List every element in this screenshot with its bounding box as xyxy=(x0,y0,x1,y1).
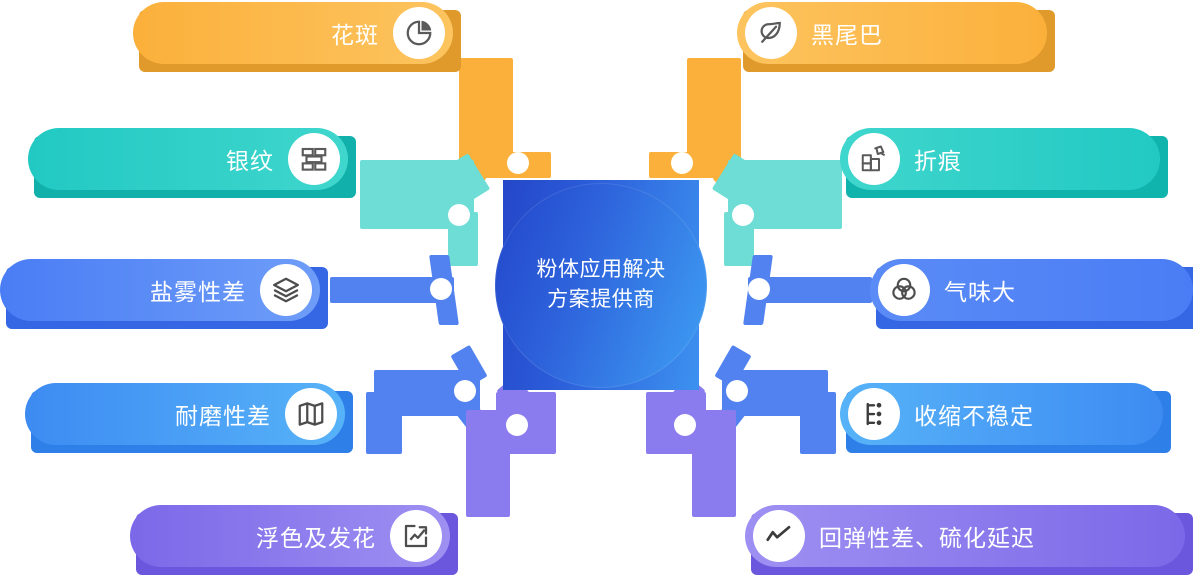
center-label: 粉体应用解决 方案提供商 xyxy=(503,180,699,390)
connector-dot xyxy=(732,204,754,226)
connector-segment xyxy=(459,58,513,161)
connector-dot xyxy=(507,152,529,174)
pill-right-2[interactable]: 折痕 xyxy=(840,128,1160,190)
connector-dot xyxy=(430,278,452,300)
pill-label: 盐雾性差 xyxy=(150,273,246,307)
pill-body: 回弹性差、硫化延迟 xyxy=(745,505,1185,567)
pill-label: 气味大 xyxy=(944,273,1016,307)
connector-dot xyxy=(748,278,770,300)
pill-left-5[interactable]: 浮色及发花 xyxy=(130,505,450,567)
pill-right-5[interactable]: 回弹性差、硫化延迟 xyxy=(745,505,1185,567)
pill-label: 浮色及发花 xyxy=(256,519,376,553)
sitemap-icon xyxy=(848,388,900,440)
line-chart-icon xyxy=(753,510,805,562)
pill-body: 盐雾性差 xyxy=(0,259,320,321)
pill-body: 黑尾巴 xyxy=(737,2,1047,64)
connector-dot xyxy=(674,414,696,436)
pill-label: 花斑 xyxy=(331,16,379,50)
center-node: 粉体应用解决 方案提供商 xyxy=(503,180,699,390)
chart-box-icon xyxy=(390,510,442,562)
layers-icon xyxy=(260,264,312,316)
leaf-icon xyxy=(745,7,797,59)
pill-body: 银纹 xyxy=(28,128,348,190)
map-icon xyxy=(285,388,337,440)
pill-body: 折痕 xyxy=(840,128,1160,190)
pill-label: 耐磨性差 xyxy=(175,397,271,431)
pill-body: 气味大 xyxy=(870,259,1193,321)
pill-body: 收缩不稳定 xyxy=(840,383,1163,445)
brick-wall-icon xyxy=(288,133,340,185)
venn-icon xyxy=(878,264,930,316)
pill-body: 耐磨性差 xyxy=(25,383,345,445)
connector-left-2 xyxy=(360,160,500,270)
connector-dot xyxy=(448,204,470,226)
pill-label: 收缩不稳定 xyxy=(914,397,1034,431)
pill-label: 回弹性差、硫化延迟 xyxy=(819,519,1035,553)
pill-left-3[interactable]: 盐雾性差 xyxy=(0,259,320,321)
connector-segment xyxy=(366,392,402,454)
connector-right-3 xyxy=(698,255,873,345)
pill-label: 银纹 xyxy=(226,142,274,176)
pill-left-1[interactable]: 花斑 xyxy=(133,2,453,64)
connector-segment xyxy=(687,58,741,161)
connector-right-5 xyxy=(620,392,736,517)
pie-chart-icon xyxy=(393,7,445,59)
pill-right-4[interactable]: 收缩不稳定 xyxy=(840,383,1163,445)
pill-right-1[interactable]: 黑尾巴 xyxy=(737,2,1047,64)
pill-body: 花斑 xyxy=(133,2,453,64)
connector-dot xyxy=(506,414,528,436)
connector-segment xyxy=(800,392,836,454)
pill-left-2[interactable]: 银纹 xyxy=(28,128,348,190)
pill-left-4[interactable]: 耐磨性差 xyxy=(25,383,345,445)
infographic-canvas: 粉体应用解决 方案提供商 花斑 银纹 xyxy=(0,0,1193,577)
pill-label: 折痕 xyxy=(914,142,962,176)
connector-left-5 xyxy=(466,392,582,517)
connector-left-3 xyxy=(330,255,505,345)
connector-dot xyxy=(671,152,693,174)
puzzle-icon xyxy=(848,133,900,185)
connector-right-2 xyxy=(702,160,842,270)
pill-right-3[interactable]: 气味大 xyxy=(870,259,1193,321)
pill-body: 浮色及发花 xyxy=(130,505,450,567)
pill-label: 黑尾巴 xyxy=(811,16,883,50)
